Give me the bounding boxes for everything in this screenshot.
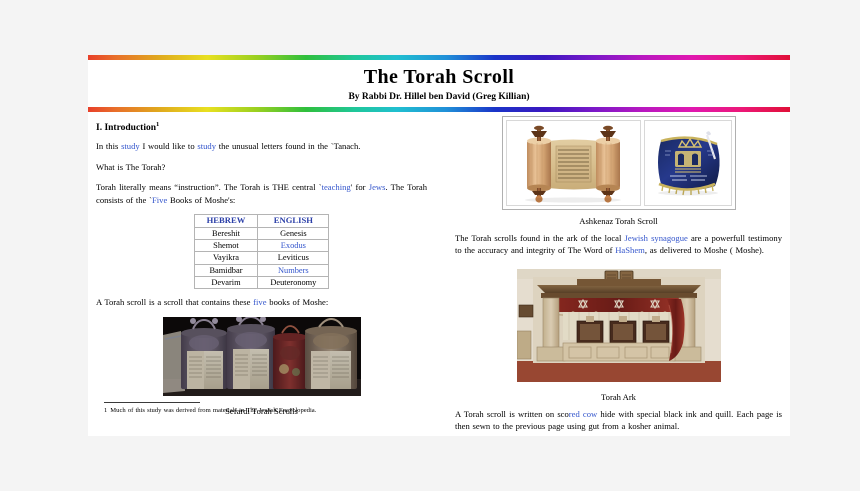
document-page: The Torah Scroll By Rabbi Dr. Hillel ben… (88, 55, 790, 436)
paragraph-question: What is The Torah? (96, 161, 427, 173)
paragraph-intro: In this study I would like to study the … (96, 140, 427, 152)
cell-english-name[interactable]: Numbers (258, 264, 329, 276)
link-study-2[interactable]: study (197, 141, 216, 151)
torah-mantle-image (644, 120, 732, 206)
cell-hebrew-name: Shemot (194, 239, 258, 251)
five-books-table: HEBREW ENGLISH BereshitGenesisShemotExod… (194, 214, 330, 289)
footnote-body: Much of this study was derived from mate… (110, 407, 316, 414)
sefardi-scrolls-art (163, 317, 361, 396)
caption-torah-ark: Torah Ark (455, 392, 782, 402)
footnote-block: 1Much of this study was derived from mat… (104, 402, 435, 416)
link-five-books[interactable]: five (253, 297, 266, 307)
cell-english-name: Leviticus (258, 252, 329, 264)
table-row: BamidbarNumbers (194, 264, 329, 276)
paragraph-torah-meaning: Torah literally means “instruction”. The… (96, 181, 427, 206)
table-row: VayikraLeviticus (194, 252, 329, 264)
sefardi-torah-scrolls-image (163, 317, 361, 396)
document-header: The Torah Scroll By Rabbi Dr. Hillel ben… (88, 60, 790, 107)
footnote-marker: 1 (156, 121, 159, 128)
ark-text-3: , as delivered to Moshe ( Moshe). (645, 245, 764, 255)
contains-text-2: books of Moshe: (267, 297, 329, 307)
link-study-1[interactable]: study (121, 141, 140, 151)
books-table-wrapper: HEBREW ENGLISH BereshitGenesisShemotExod… (96, 214, 427, 289)
cell-hebrew-name: Bereshit (194, 227, 258, 239)
cell-hebrew-name: Vayikra (194, 252, 258, 264)
cell-hebrew-name: Devarim (194, 276, 258, 288)
link-jewish-synagogue[interactable]: Jewish synagogue (625, 233, 688, 243)
document-body: I. Introduction1 In this study I would l… (88, 112, 790, 442)
figure-torah-ark: Torah Ark (455, 269, 782, 402)
footnote-content: 1Much of this study was derived from mat… (104, 406, 435, 416)
table-header-row: HEBREW ENGLISH (194, 214, 329, 227)
link-teaching[interactable]: teaching (322, 182, 351, 192)
open-scroll-art (507, 121, 640, 205)
section-heading-introduction: I. Introduction1 (96, 121, 427, 133)
table-row: ShemotExodus (194, 239, 329, 251)
cell-english-name: Deuteronomy (258, 276, 329, 288)
torah-ark-art (517, 269, 721, 382)
paragraph-scroll-written: A Torah scroll is written on scored cow … (455, 408, 782, 433)
open-torah-scroll-image (506, 120, 641, 206)
intro-text-2: I would like to (140, 141, 198, 151)
cell-hebrew-name: Bamidbar (194, 264, 258, 276)
meaning-text-1: Torah literally means “instruction”. The… (96, 182, 322, 192)
paragraph-scroll-contains: A Torah scroll is a scroll that contains… (96, 296, 427, 308)
intro-text-1: In this (96, 141, 121, 151)
table-row: BereshitGenesis (194, 227, 329, 239)
intro-text-3: the unusual letters found in the `Tanach… (216, 141, 360, 151)
paragraph-torah-ark-testimony: The Torah scrolls found in the ark of th… (455, 232, 782, 257)
books-table-body: BereshitGenesisShemotExodusVayikraLeviti… (194, 227, 329, 289)
blue-velvet-mantle-art (645, 121, 731, 205)
column-header-english: ENGLISH (258, 214, 329, 227)
cell-english-name[interactable]: Exodus (258, 239, 329, 251)
ark-text-1: The Torah scrolls found in the ark of th… (455, 233, 625, 243)
left-column: I. Introduction1 In this study I would l… (96, 112, 427, 422)
column-header-hebrew: HEBREW (194, 214, 258, 227)
figure-ashkenaz-scroll: Ashkenaz Torah Scroll (455, 116, 782, 226)
link-jews[interactable]: Jews (369, 182, 386, 192)
section-heading-label: I. Introduction (96, 123, 156, 133)
byline: By Rabbi Dr. Hillel ben David (Greg Kill… (88, 92, 790, 102)
link-five[interactable]: Five (152, 195, 167, 205)
cell-english-name: Genesis (258, 227, 329, 239)
link-numbers[interactable]: Numbers (278, 266, 309, 275)
page-title: The Torah Scroll (88, 66, 790, 89)
caption-ashkenaz-torah-scroll: Ashkenaz Torah Scroll (455, 216, 782, 226)
link-exodus[interactable]: Exodus (281, 241, 306, 250)
link-red-cow[interactable]: red cow (569, 409, 597, 419)
link-hashem[interactable]: HaShem (615, 245, 645, 255)
meaning-text-4: Books of Moshe's: (167, 195, 235, 205)
contains-text-1: A Torah scroll is a scroll that contains… (96, 297, 253, 307)
meaning-text-2: ' for (351, 182, 369, 192)
footnote-number: 1 (104, 407, 107, 414)
right-column: Ashkenaz Torah Scroll The Torah scrolls … (455, 112, 782, 441)
footnote-separator (104, 402, 200, 403)
table-row: DevarimDeuteronomy (194, 276, 329, 288)
torah-ark-image (517, 269, 721, 382)
written-text-1: A Torah scroll is written on sco (455, 409, 569, 419)
ashkenaz-image-frame (502, 116, 736, 210)
